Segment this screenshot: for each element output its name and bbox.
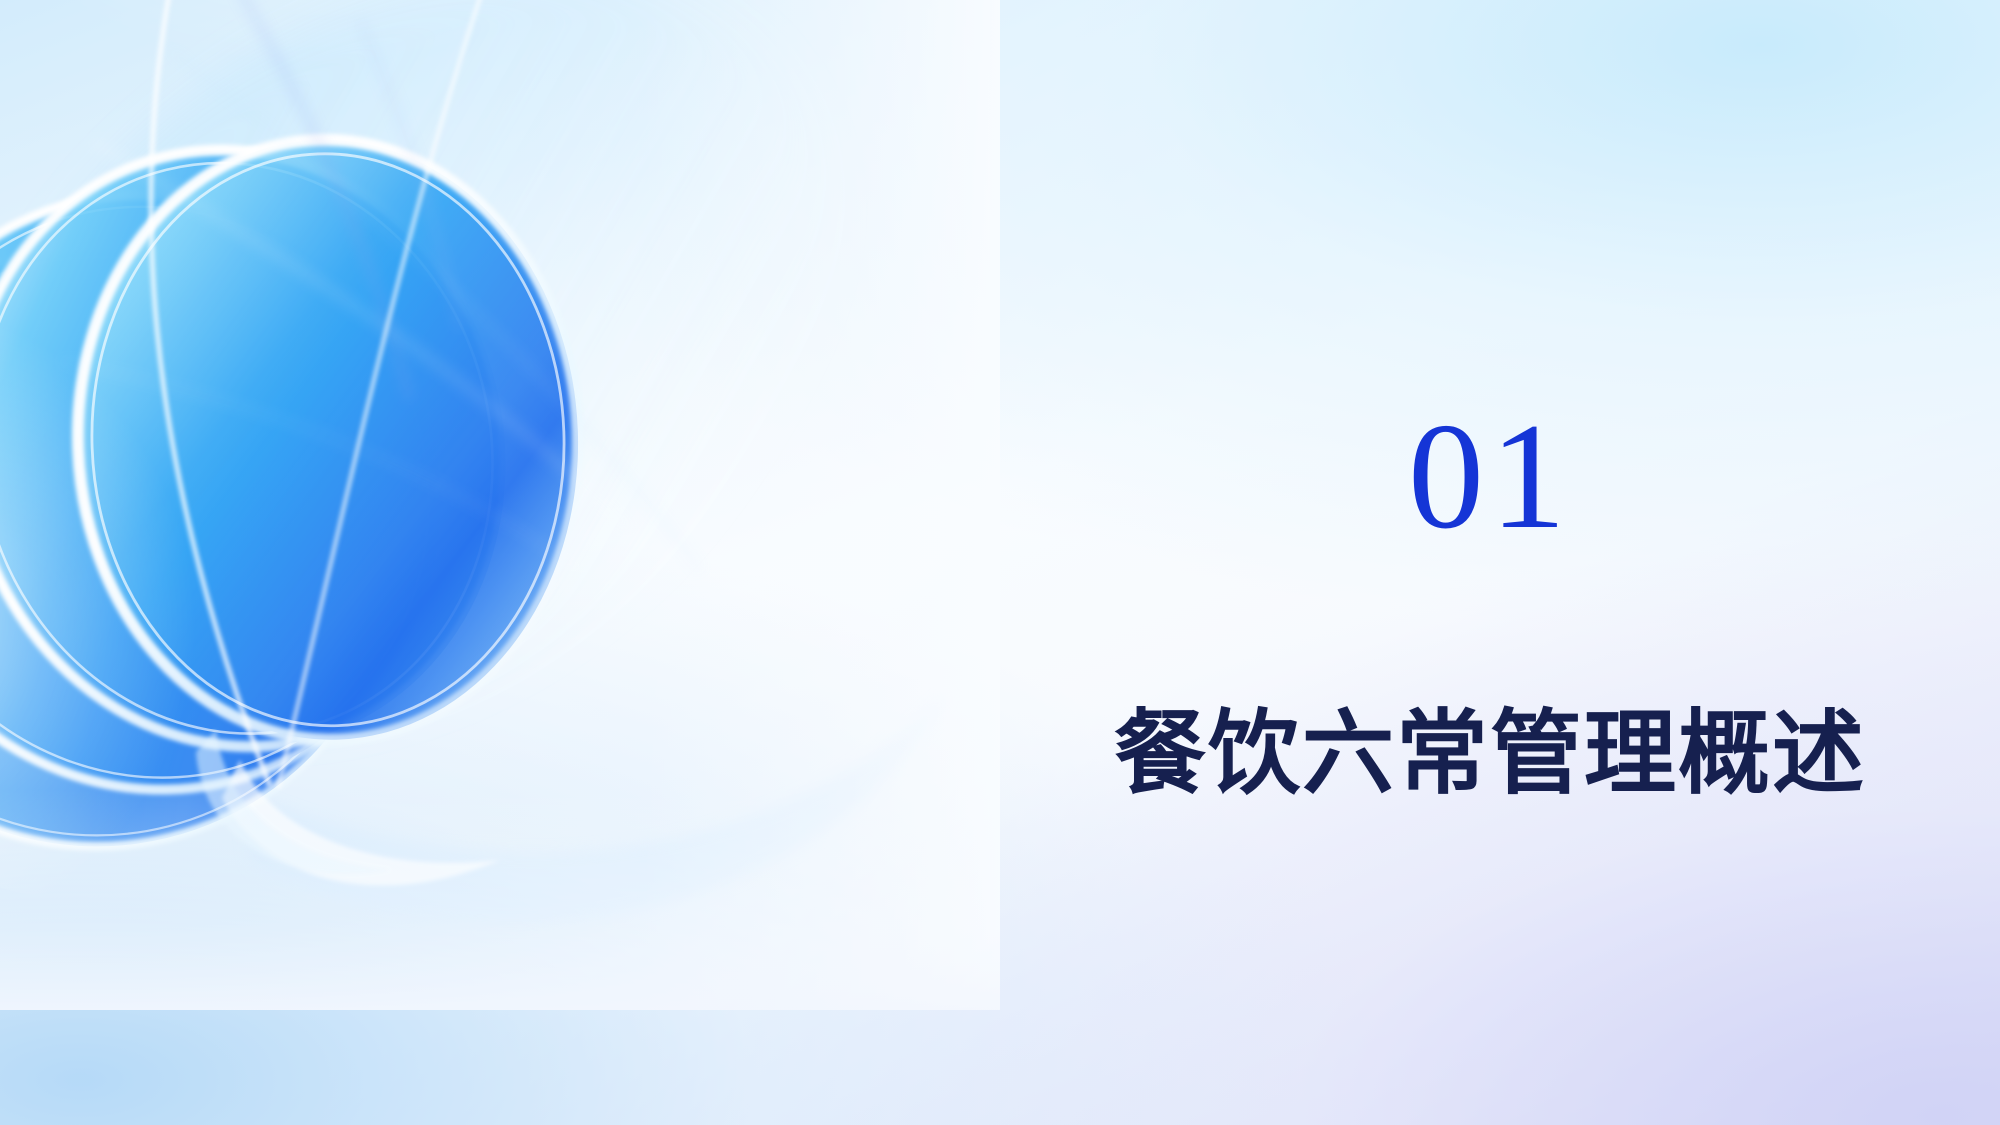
decorative-glass-petals-graphic (0, 0, 1000, 1010)
slide-text-block: 01 餐饮六常管理概述 (1090, 0, 1950, 1125)
page-title: 餐饮六常管理概述 (1090, 700, 1890, 809)
section-number: 01 (1090, 400, 1890, 552)
slide-canvas: 01 餐饮六常管理概述 (0, 0, 2000, 1125)
